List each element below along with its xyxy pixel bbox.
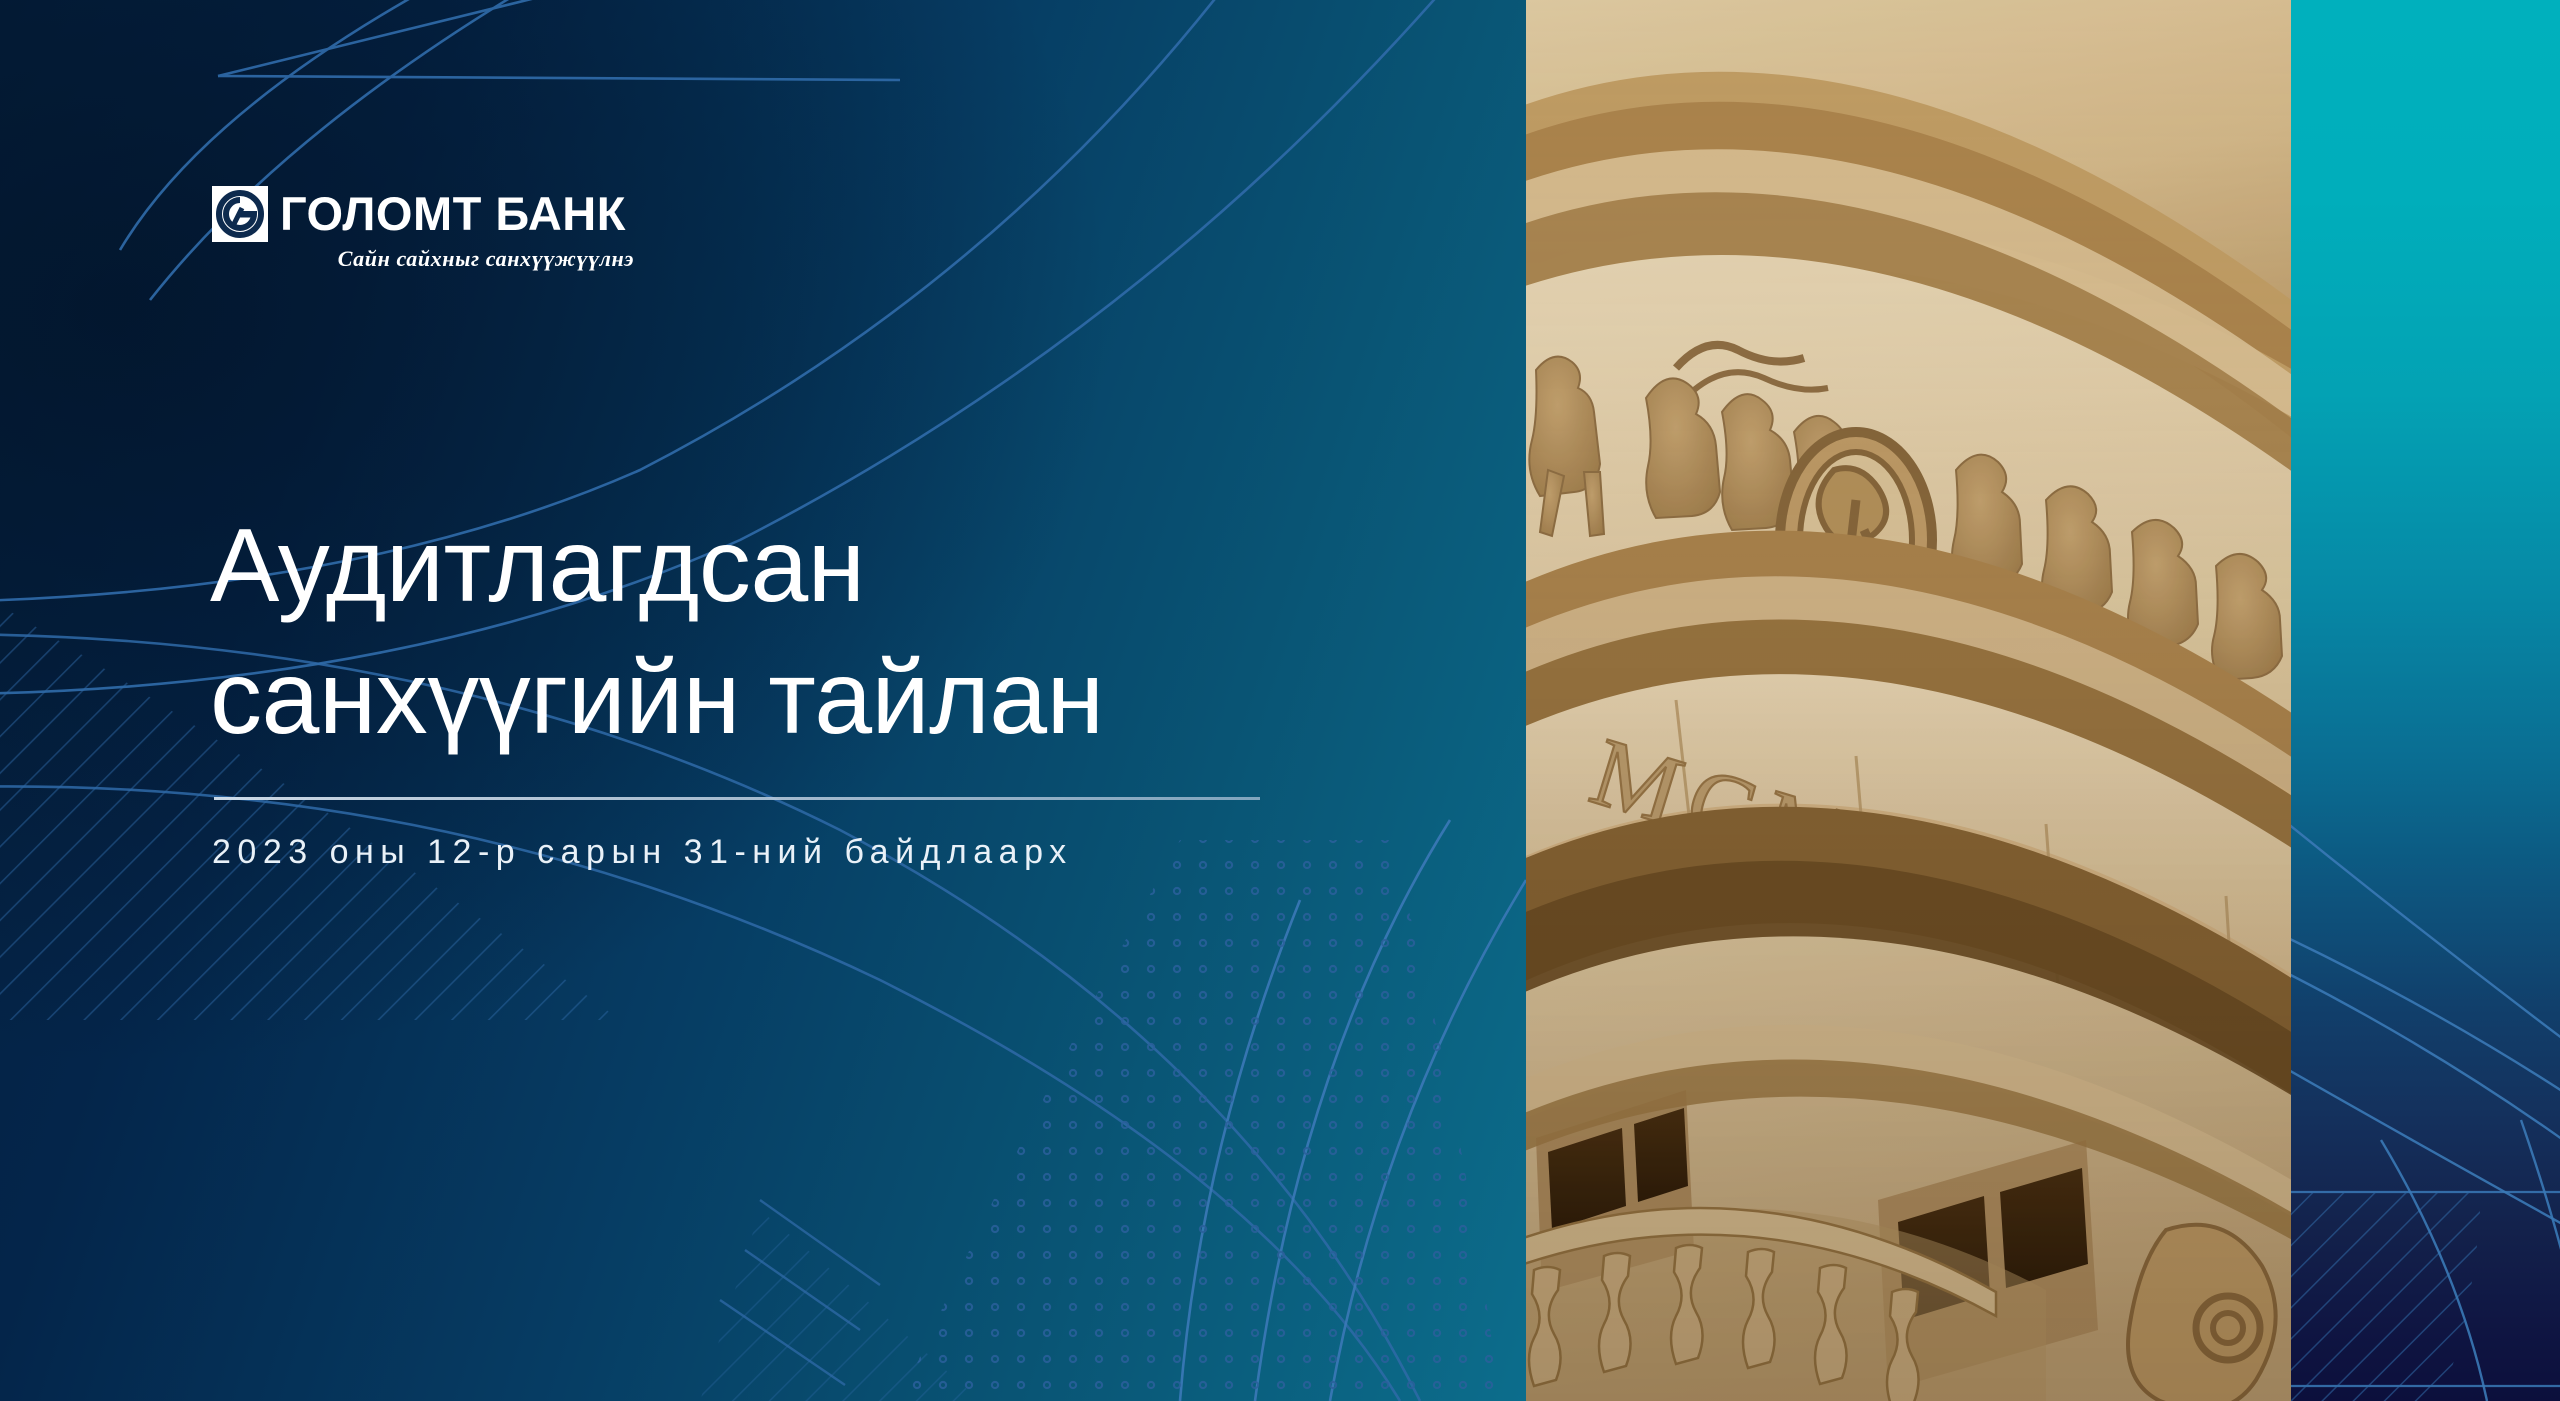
brand-logo-lockup: ГОЛОМТ БАНК Сайн сайхныг санхүүжүүлнэ bbox=[212, 186, 632, 270]
cover-title-line-1: Аудитлагдсан bbox=[210, 500, 1350, 632]
cover-subtitle: 2023 оны 12-р сарын 31-ний байдлаарх bbox=[212, 833, 1073, 872]
accent-band-line-art bbox=[2291, 0, 2560, 1401]
report-cover-slide: ГОЛОМТ БАНК Сайн сайхныг санхүүжүүлнэ Ау… bbox=[0, 0, 2560, 1401]
cover-title: Аудитлагдсан санхүүгийн тайлан bbox=[210, 500, 1350, 764]
title-divider-rule bbox=[214, 797, 1260, 800]
golomt-g-monogram-icon bbox=[212, 186, 268, 242]
facade-photo: MCMXCV bbox=[1526, 0, 2291, 1401]
brand-wordmark: ГОЛОМТ БАНК bbox=[280, 188, 626, 240]
brand-tagline: Сайн сайхныг санхүүжүүлнэ bbox=[334, 246, 634, 272]
photo-sepia-overlay bbox=[1526, 0, 2291, 1401]
left-brand-panel: ГОЛОМТ БАНК Сайн сайхныг санхүүжүүлнэ Ау… bbox=[0, 0, 1526, 1401]
cover-title-line-2: санхүүгийн тайлан bbox=[210, 632, 1350, 764]
right-accent-band bbox=[2291, 0, 2560, 1401]
